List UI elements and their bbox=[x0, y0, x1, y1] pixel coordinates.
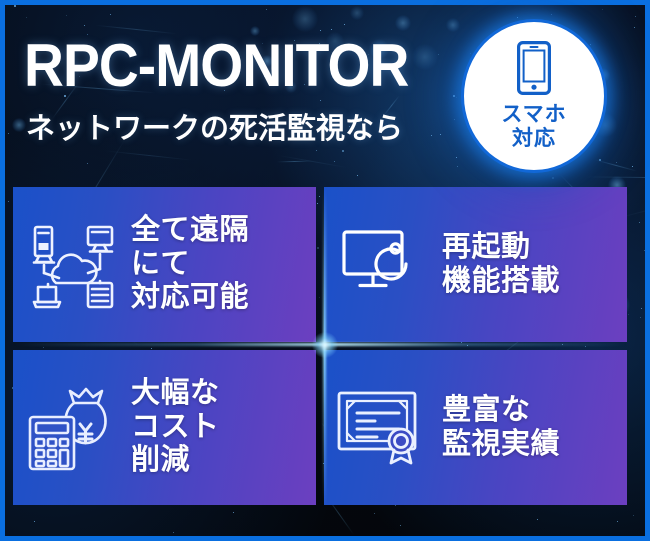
badge-label-line1: スマホ bbox=[501, 103, 566, 127]
panel-label-line1: 再起動 bbox=[442, 231, 560, 265]
panel-label-line2: 監視実績 bbox=[442, 428, 560, 462]
panel-label: 大幅な コスト 削減 bbox=[131, 377, 220, 478]
product-title: RPC-MONITOR bbox=[24, 36, 408, 96]
badge-label-line2: 対応 bbox=[512, 127, 556, 151]
calculator-money-bag-icon bbox=[13, 384, 131, 472]
panel-label-line3: 対応可能 bbox=[131, 281, 249, 315]
panel-label-line2: 機能搭載 bbox=[442, 265, 560, 299]
panel-label: 全て遠隔 にて 対応可能 bbox=[131, 214, 249, 315]
cloud-network-icon bbox=[13, 221, 131, 309]
panel-label-line2: にて bbox=[131, 248, 249, 282]
feature-panel-cost-reduction[interactable]: 大幅な コスト 削減 bbox=[13, 350, 316, 505]
feature-panel-reboot-function[interactable]: 再起動 機能搭載 bbox=[324, 187, 627, 342]
feature-panel-remote-support[interactable]: 全て遠隔 にて 対応可能 bbox=[13, 187, 316, 342]
product-subtitle: ネットワークの死活監視なら bbox=[26, 115, 403, 144]
feature-panel-monitoring-record[interactable]: 豊富な 監視実績 bbox=[324, 350, 627, 505]
rpc-monitor-banner: RPC-MONITOR ネットワークの死活監視なら スマホ 対応 bbox=[0, 0, 650, 541]
panel-label: 再起動 機能搭載 bbox=[442, 231, 560, 298]
panel-label-line2: コスト bbox=[131, 411, 220, 445]
panel-label-line3: 削減 bbox=[131, 444, 220, 478]
certificate-award-icon bbox=[324, 389, 442, 467]
monitor-restart-icon bbox=[324, 228, 442, 302]
panel-label-line1: 全て遠隔 bbox=[131, 214, 249, 248]
smartphone-icon bbox=[517, 41, 551, 100]
smartphone-support-badge: スマホ 対応 bbox=[461, 19, 607, 173]
feature-panel-grid: 全て遠隔 にて 対応可能 bbox=[13, 187, 627, 507]
panel-label-line1: 大幅な bbox=[131, 377, 220, 411]
panel-label-line1: 豊富な bbox=[442, 394, 560, 428]
panel-label: 豊富な 監視実績 bbox=[442, 394, 560, 461]
